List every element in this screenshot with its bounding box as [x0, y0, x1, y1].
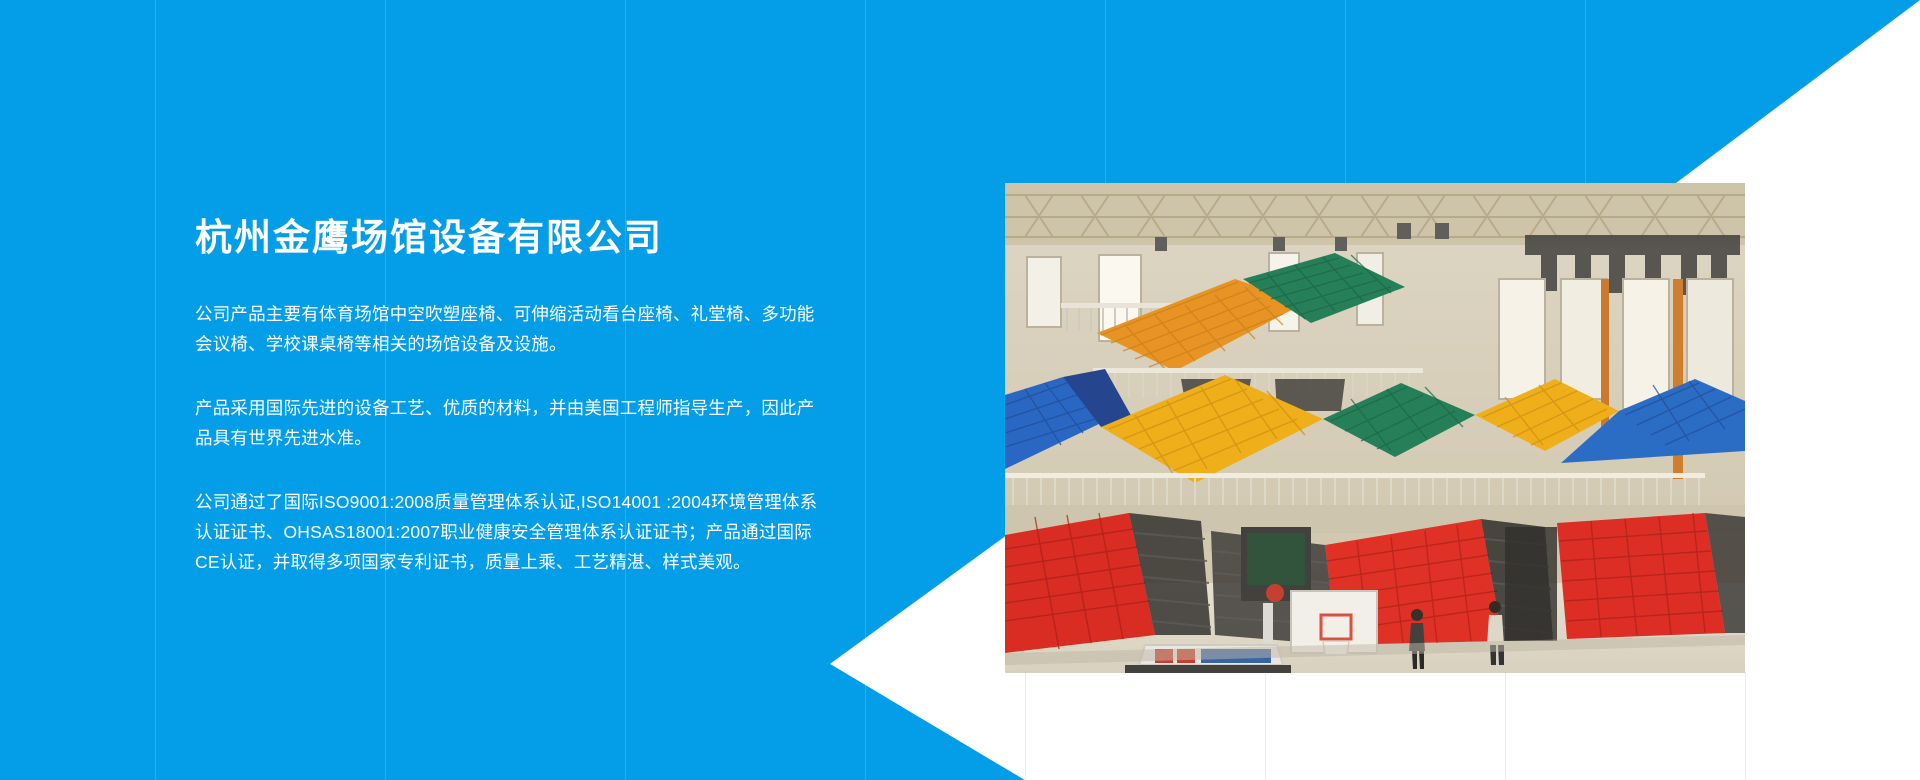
- paragraph-products: 公司产品主要有体育场馆中空吹塑座椅、可伸缩活动看台座椅、礼堂椅、多功能会议椅、学…: [195, 299, 820, 359]
- paragraph-certifications: 公司通过了国际ISO9001:2008质量管理体系认证,ISO14001 :20…: [195, 487, 820, 577]
- hero-banner: 杭州金鹰场馆设备有限公司 公司产品主要有体育场馆中空吹塑座椅、可伸缩活动看台座椅…: [0, 0, 1920, 780]
- banner-text-column: 杭州金鹰场馆设备有限公司 公司产品主要有体育场馆中空吹塑座椅、可伸缩活动看台座椅…: [195, 215, 820, 577]
- gymnasium-photo-illustration: [1005, 183, 1745, 673]
- paragraph-technology: 产品采用国际先进的设备工艺、优质的材料，并由美国工程师指导生产，因此产品具有世界…: [195, 393, 820, 453]
- page-title: 杭州金鹰场馆设备有限公司: [195, 215, 820, 259]
- gymnasium-photo: [1005, 183, 1745, 673]
